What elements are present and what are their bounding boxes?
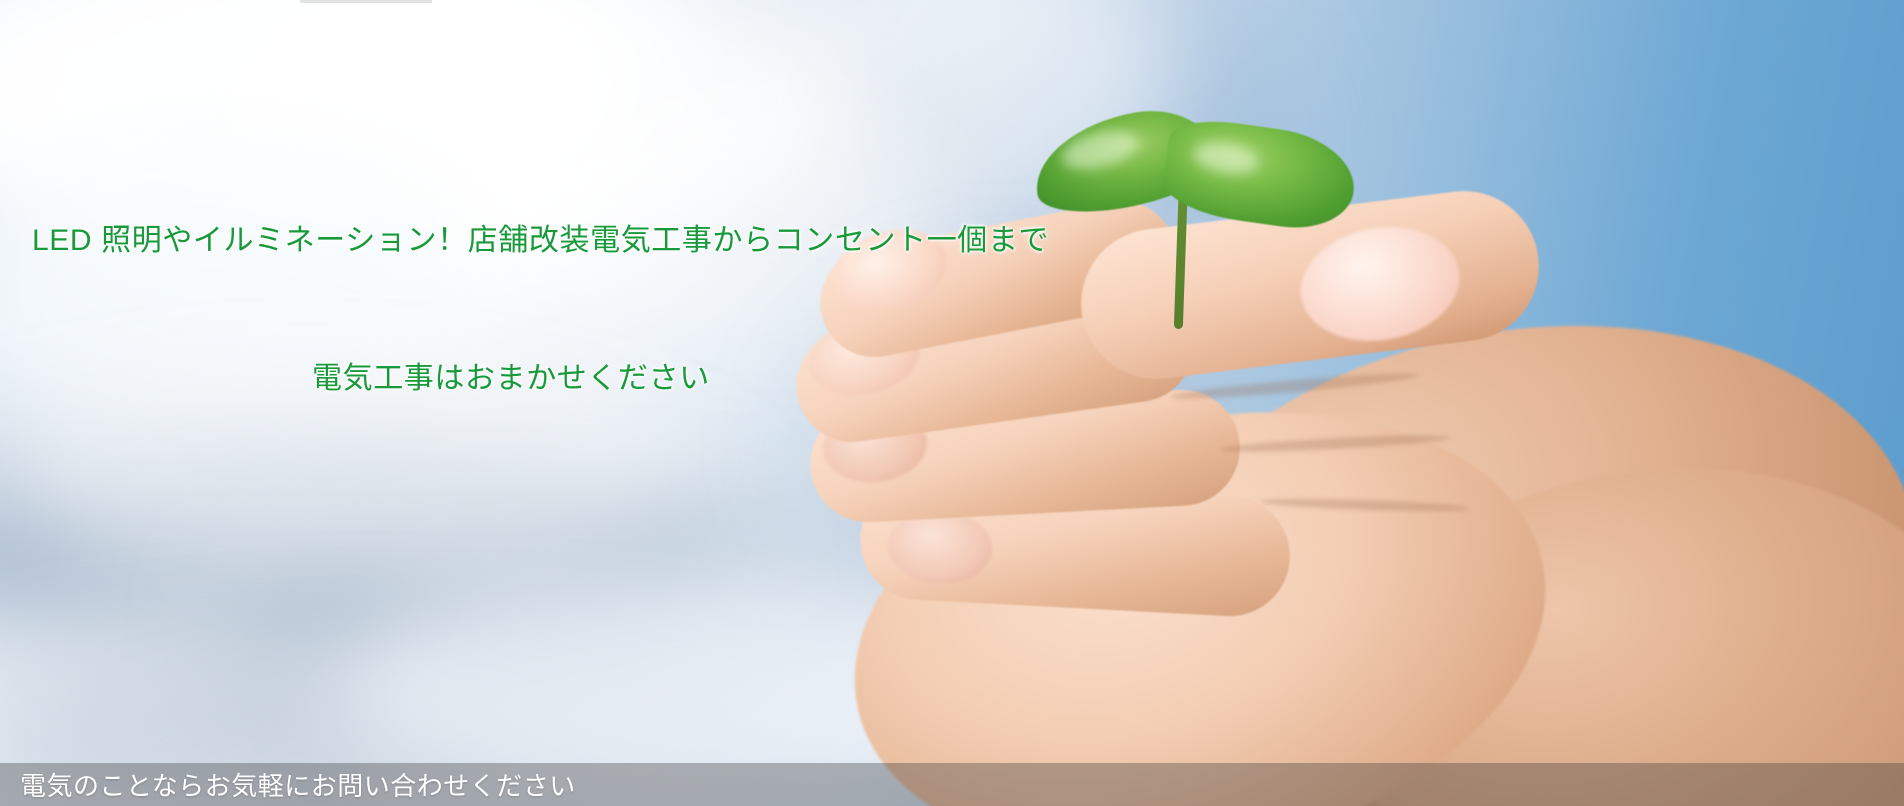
contact-bar[interactable]: 電気のことならお気軽にお問い合わせください xyxy=(0,763,1904,806)
banner-headline: LED 照明やイルミネーション！店舗改装電気工事からコンセント一個まで xyxy=(32,222,1049,260)
contact-bar-text: 電気のことならお気軽にお問い合わせください xyxy=(20,766,576,803)
hero-banner: LED 照明やイルミネーション！店舗改装電気工事からコンセント一個まで 電気工事… xyxy=(0,0,1904,806)
banner-copy: LED 照明やイルミネーション！店舗改装電気工事からコンセント一個まで 電気工事… xyxy=(0,0,1904,806)
banner-subline: 電気工事はおまかせください xyxy=(312,360,710,398)
